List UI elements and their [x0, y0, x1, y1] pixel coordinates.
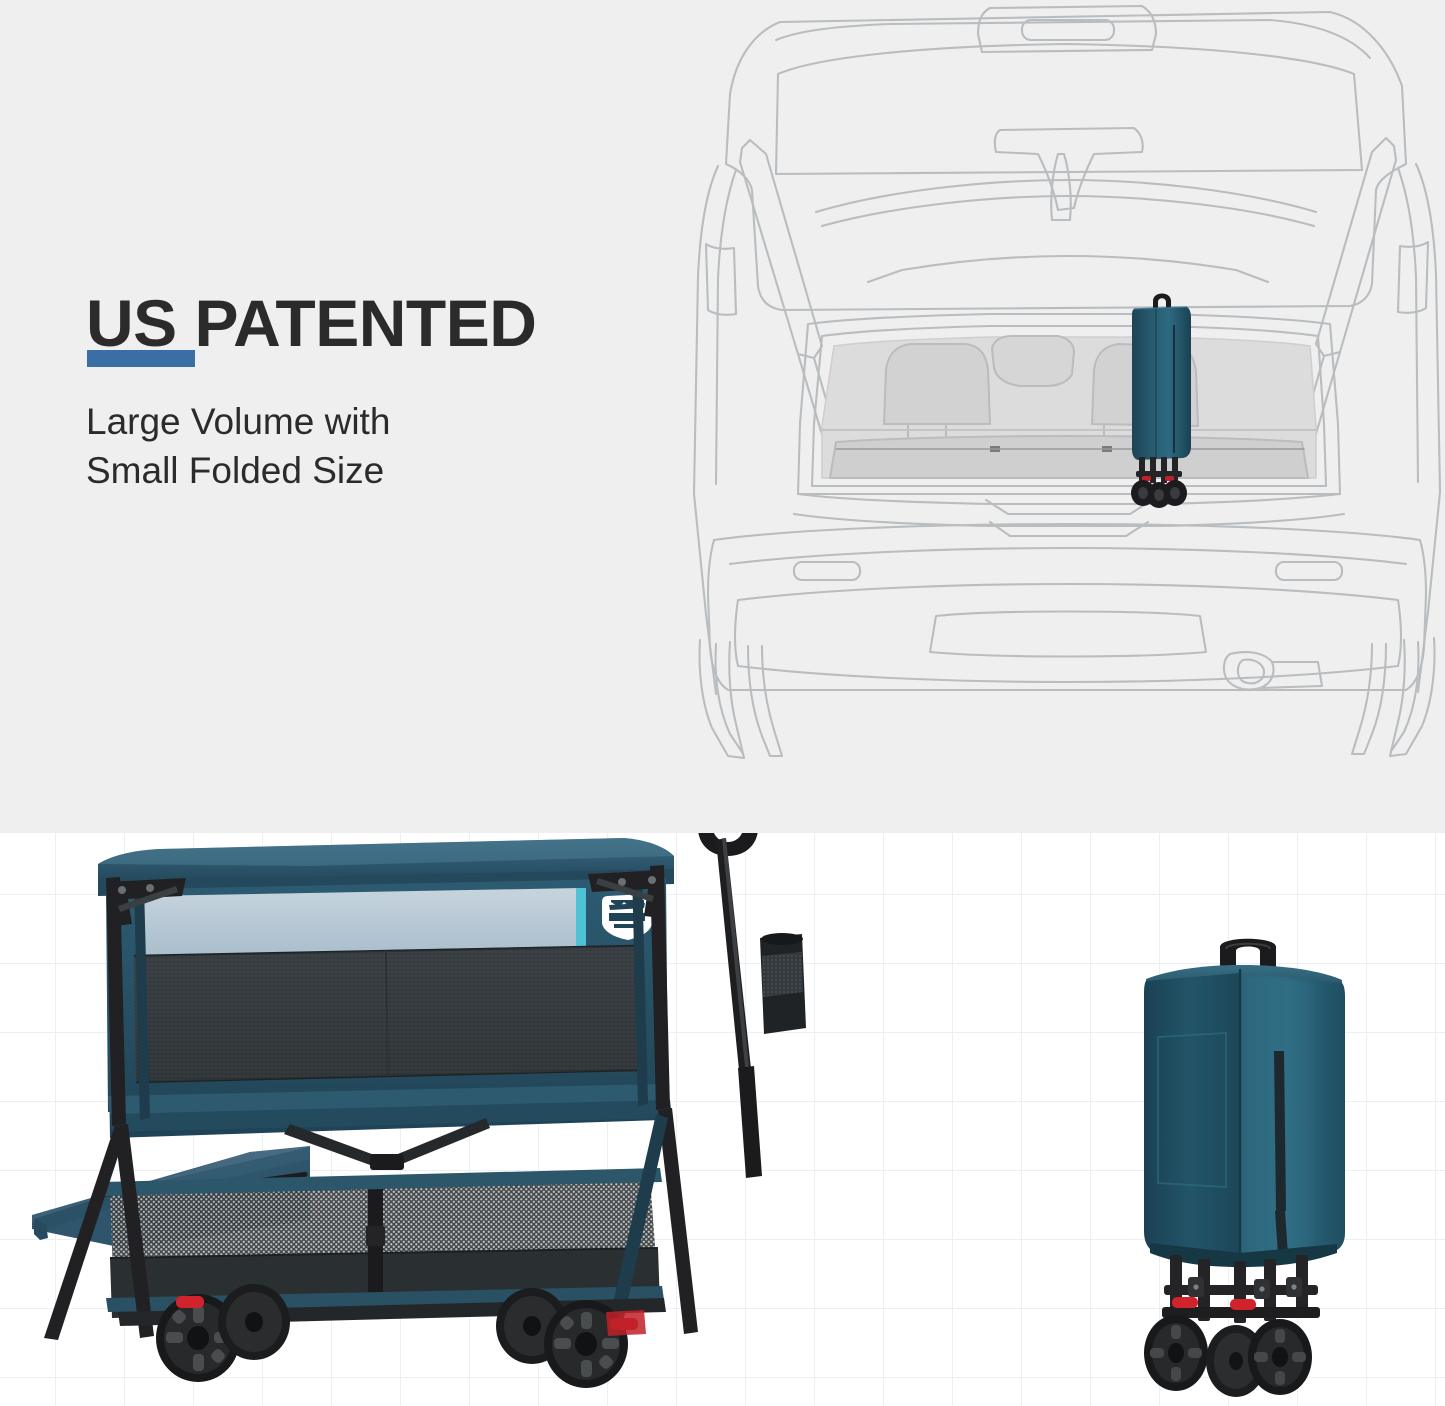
- folded-frame: [1162, 1255, 1320, 1323]
- subtitle-line-1: Large Volume with: [86, 398, 686, 447]
- lower-deck: [102, 1168, 664, 1318]
- headline-us-text: US: [86, 286, 177, 360]
- brand-badge: [602, 894, 652, 940]
- headline-block: US PATENTED Large Volume with Small Fold…: [86, 290, 686, 496]
- bottom-panel: [0, 833, 1445, 1406]
- headline-highlight-word: US: [86, 290, 177, 356]
- wagon-handle: [698, 833, 762, 1178]
- cup-holder: [760, 933, 806, 1034]
- subtitle-line-2: Small Folded Size: [86, 447, 686, 496]
- brake-pedal-rear: [176, 1296, 204, 1308]
- headline-rest-text: PATENTED: [177, 286, 537, 360]
- wagon-folded-product-image: [1128, 933, 1363, 1403]
- wagon-unfolded-product-image: [10, 833, 820, 1406]
- page-title: US PATENTED: [86, 290, 536, 356]
- page-subtitle: Large Volume with Small Folded Size: [86, 398, 686, 496]
- headline-underline-bar: [87, 350, 195, 367]
- folded-wheels: [1144, 1315, 1312, 1397]
- folded-wagon-in-trunk: [1125, 285, 1197, 510]
- suv-open-trunk-illustration: [690, 0, 1445, 784]
- brake-pedal-right: [1230, 1299, 1256, 1310]
- brake-pedal-left: [1172, 1297, 1198, 1308]
- top-panel: US PATENTED Large Volume with Small Fold…: [0, 0, 1445, 833]
